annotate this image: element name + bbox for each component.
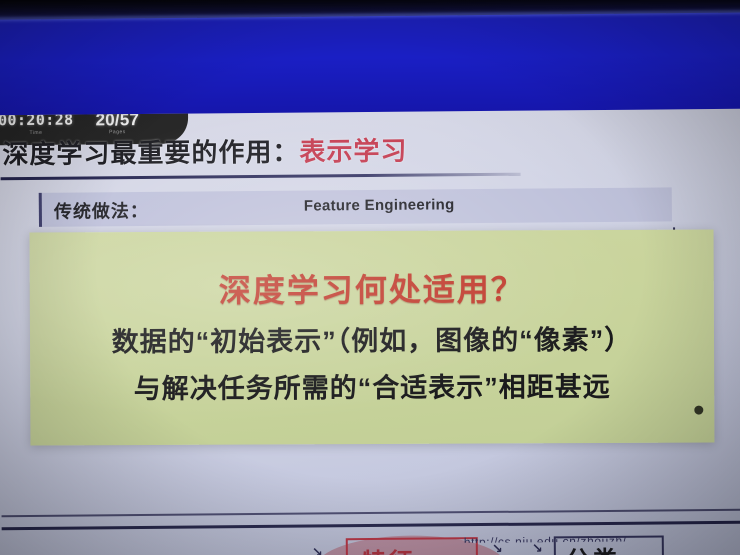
callout-heading: 深度学习何处适用？ bbox=[30, 264, 714, 313]
timer-page-group: 20/57 Pages bbox=[95, 111, 139, 136]
projector-blue-band bbox=[0, 12, 740, 124]
feature-engineering-label: Feature Engineering bbox=[304, 196, 455, 214]
callout-overlay: 深度学习何处适用？ 数据的“初始表示”（例如，图像的“像素”） 与解决任务所需的… bbox=[30, 230, 715, 446]
feature-box-label: 特征 bbox=[362, 542, 416, 555]
callout-line-1: 数据的“初始表示”（例如，图像的“像素”） bbox=[30, 318, 714, 360]
timer-elapsed-label: Time bbox=[29, 130, 42, 137]
timer-elapsed-group: 00:20:28 Time bbox=[0, 112, 74, 138]
arrow-down-icon: ↘ bbox=[312, 544, 323, 555]
laser-pointer-dot bbox=[694, 406, 703, 415]
slide-title-accent: 表示学习 bbox=[299, 136, 407, 167]
feature-box: 特征 bbox=[346, 537, 478, 555]
footer-rule-thick bbox=[2, 521, 740, 530]
projected-slide-photo: 00:20:28 Time 20/57 Pages 深度学习最重要的作用：表示学… bbox=[0, 0, 740, 555]
classification-box-label: 分类 bbox=[566, 540, 620, 555]
slide-title-main: 深度学习最重要的作用： bbox=[2, 137, 299, 170]
timer-page-label: Pages bbox=[109, 129, 126, 136]
arrow-down-icon: ↘ bbox=[492, 541, 503, 555]
title-underline-rule bbox=[1, 173, 521, 181]
timer-elapsed-value: 00:20:28 bbox=[0, 112, 74, 130]
traditional-approach-label: 传统做法： bbox=[54, 197, 149, 224]
callout-line-2: 与解决任务所需的“合适表示”相距甚远 bbox=[30, 365, 714, 407]
traditional-approach-bar: 传统做法： Feature Engineering bbox=[39, 187, 672, 227]
arrow-down-icon: ↘ bbox=[532, 541, 543, 555]
slide-title: 深度学习最重要的作用：表示学习 bbox=[2, 136, 407, 170]
timer-page-value: 20/57 bbox=[95, 111, 139, 128]
footer-rule-thin bbox=[2, 509, 740, 517]
